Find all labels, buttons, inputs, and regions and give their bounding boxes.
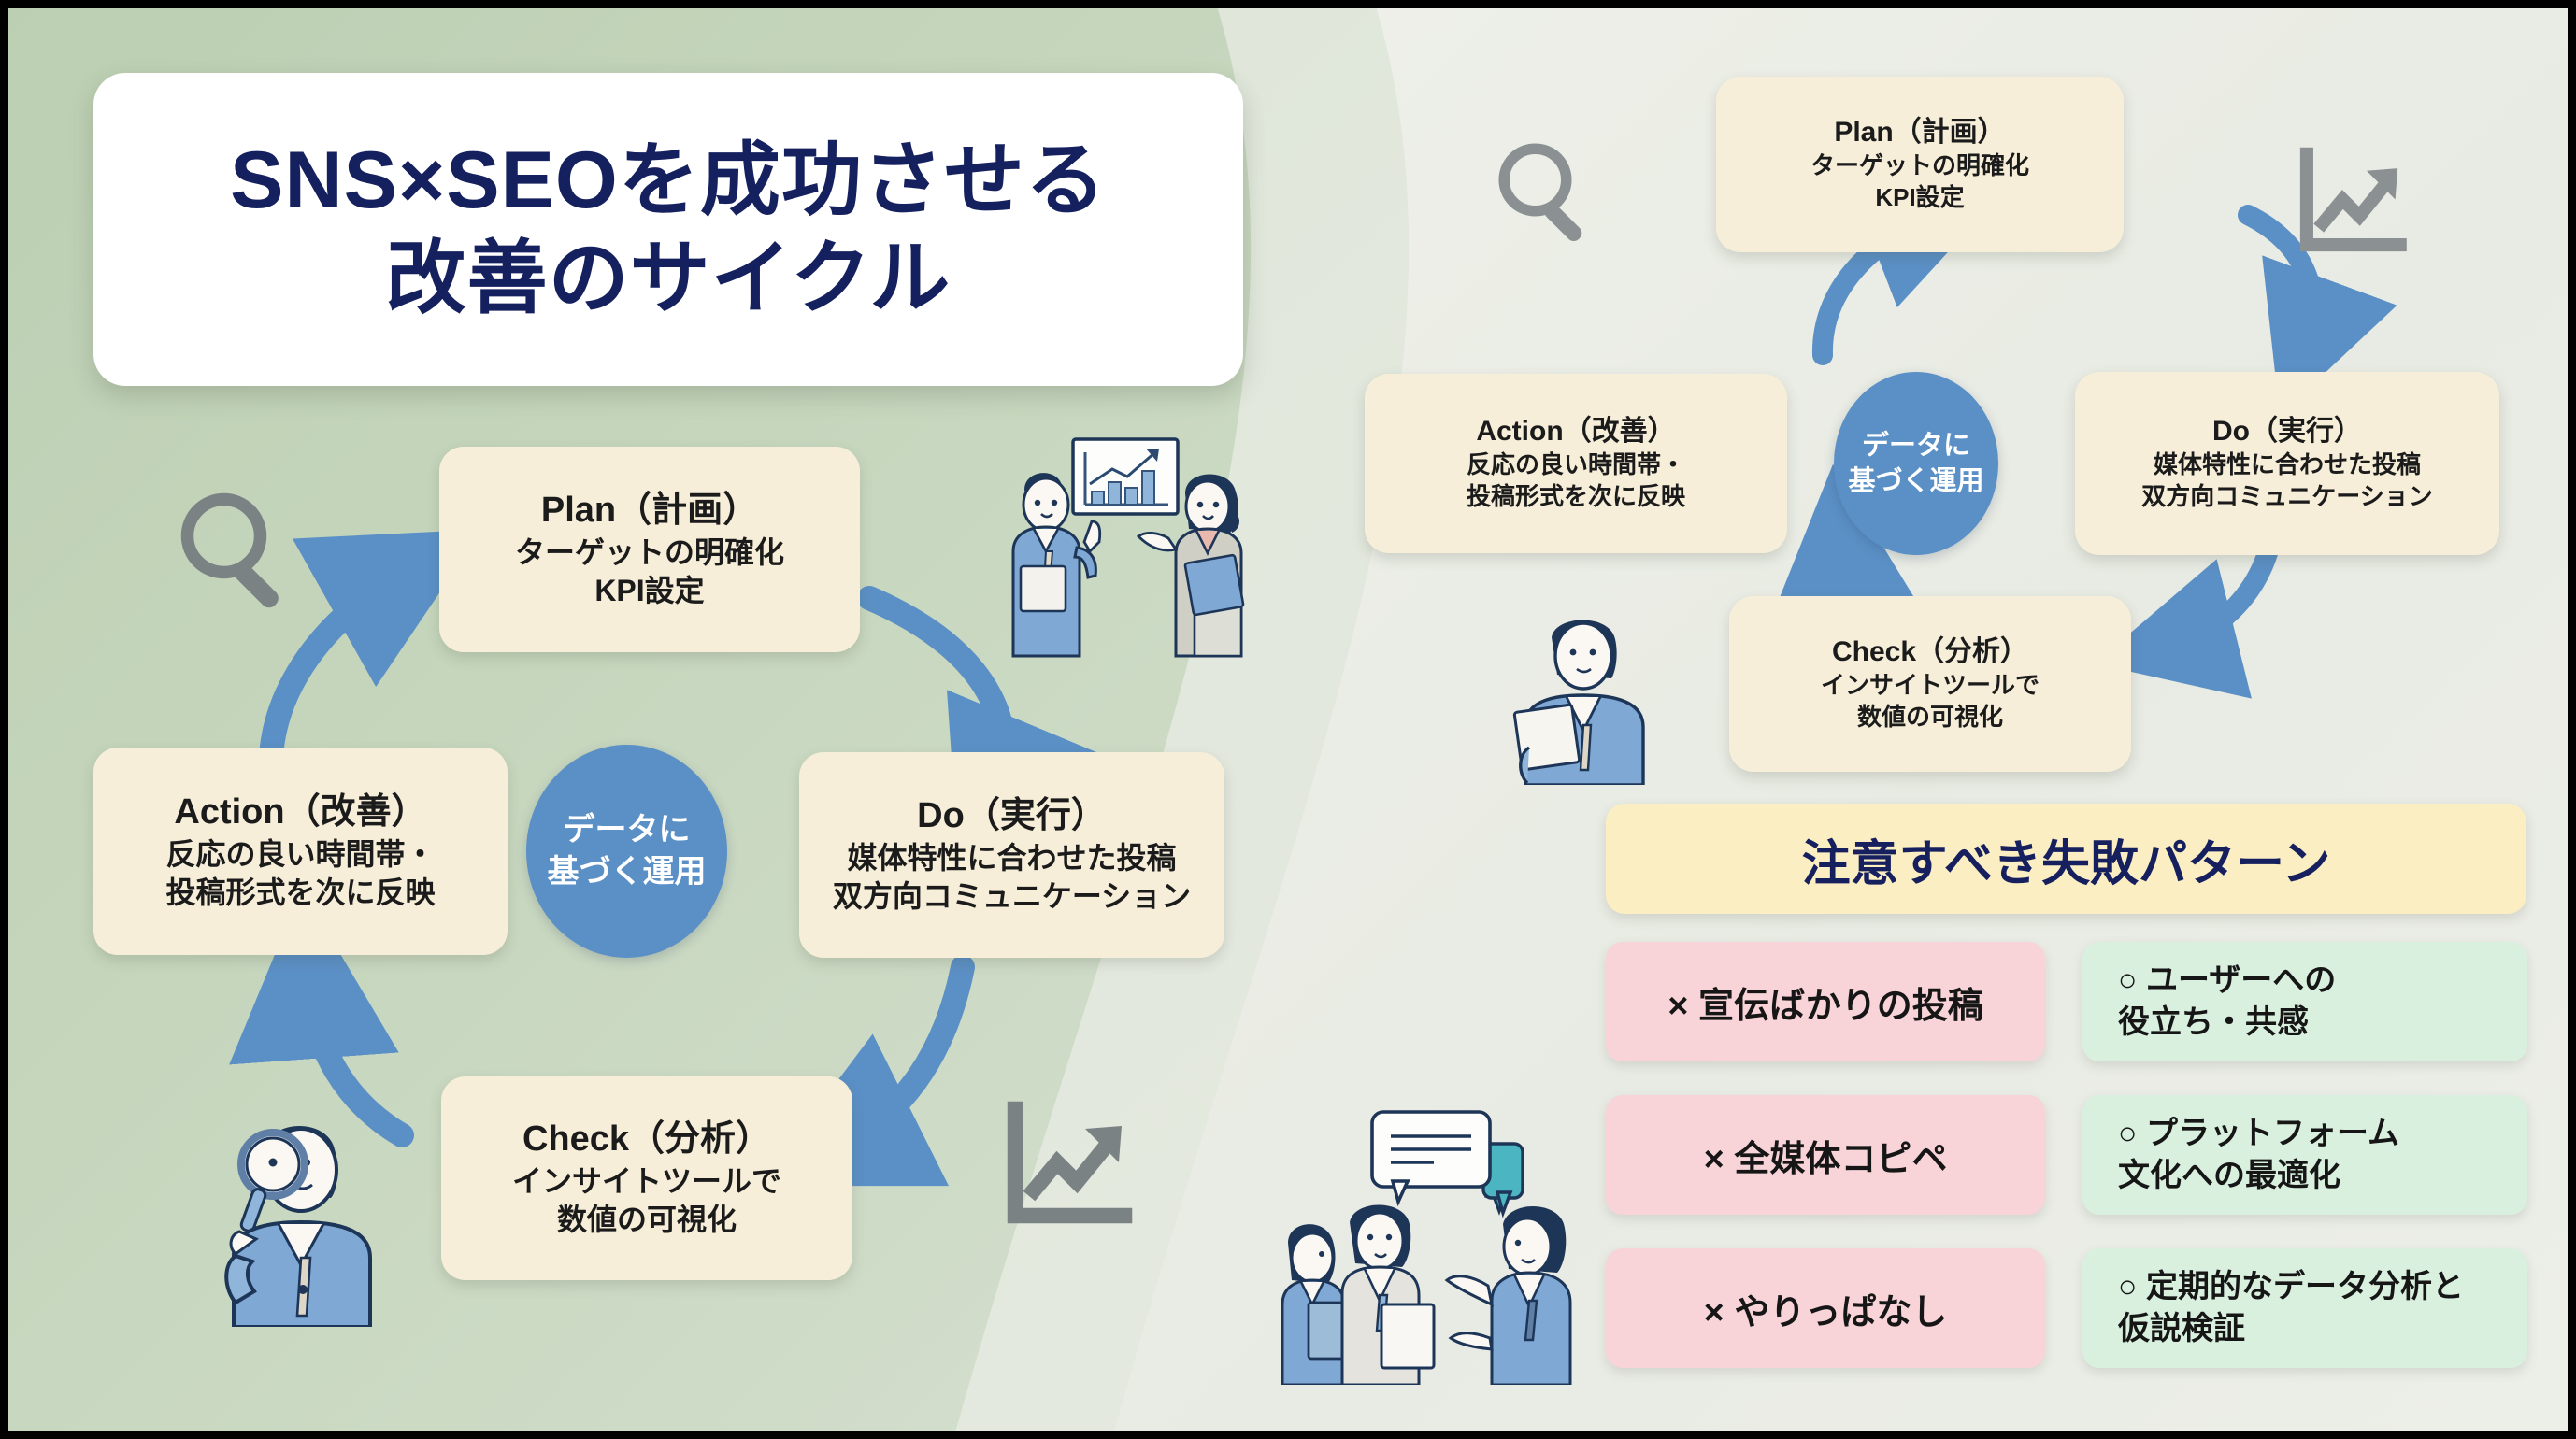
failure-good-text-1: ○ ユーザーへの 役立ち・共感 xyxy=(2118,960,2336,1044)
three-people-discussion-illustration xyxy=(1264,1103,1593,1385)
right-action-head: Action（改善） xyxy=(1476,414,1675,449)
failure-good-text-2: ○ プラットフォーム 文化への最適化 xyxy=(2118,1113,2399,1197)
search-icon xyxy=(166,478,307,619)
right-do-line1: 媒体特性に合わせた投稿 xyxy=(2154,449,2421,481)
left-hub-line1: データに xyxy=(564,809,691,851)
left-hub-line2: 基づく運用 xyxy=(548,851,707,893)
growth-chart-icon xyxy=(995,1095,1136,1235)
search-icon xyxy=(1486,131,1606,250)
right-cycle-card-action: Action（改善） 反応の良い時間帯・ 投稿形式を次に反映 xyxy=(1365,374,1787,553)
failure-panel-heading: 注意すべき失敗パターン xyxy=(1606,804,2526,914)
right-check-line1: インサイトツールで xyxy=(1821,670,2039,702)
left-check-line1: インサイトツールで xyxy=(512,1162,781,1202)
right-cycle-card-plan: Plan（計画） ターゲットの明確化 KPI設定 xyxy=(1716,77,2124,252)
right-check-head: Check（分析） xyxy=(1832,634,2028,670)
right-do-line2: 双方向コミュニケーション xyxy=(2141,481,2432,513)
left-cycle-hub: データに 基づく運用 xyxy=(526,745,727,958)
right-plan-line1: ターゲットの明確化 xyxy=(1810,150,2029,182)
failure-bad-text-2: × 全媒体コピペ xyxy=(1704,1130,1948,1181)
page-title-line1: SNS×SEOを成功させる xyxy=(230,132,1107,230)
failure-good-text-3: ○ 定期的なデータ分析と 仮説検証 xyxy=(2118,1266,2464,1350)
failure-bad-text-3: × やりっぱなし xyxy=(1704,1283,1948,1334)
right-check-line2: 数値の可視化 xyxy=(1857,702,2003,734)
failure-good-row-1: ○ ユーザーへの 役立ち・共感 xyxy=(2082,942,2527,1061)
frame-left-border xyxy=(0,0,8,1439)
right-cycle-card-check: Check（分析） インサイトツールで 数値の可視化 xyxy=(1729,596,2131,772)
left-action-head: Action（改善） xyxy=(174,790,426,835)
left-plan-line1: ターゲットの明確化 xyxy=(515,534,784,573)
left-cycle-card-check: Check（分析） インサイトツールで 数値の可視化 xyxy=(441,1076,852,1280)
two-people-presenting-chart-illustration xyxy=(972,411,1285,659)
failure-bad-row-2: × 全媒体コピペ xyxy=(1606,1095,2045,1215)
left-cycle-card-do: Do（実行） 媒体特性に合わせた投稿 双方向コミュニケーション xyxy=(799,752,1224,958)
title-card: SNS×SEOを成功させる 改善のサイクル xyxy=(93,73,1243,386)
frame-bottom-border xyxy=(0,1431,2576,1439)
left-action-line1: 反応の良い時間帯・ xyxy=(165,835,435,875)
man-with-magnifier-illustration xyxy=(185,1091,419,1327)
right-hub-line1: データに xyxy=(1862,428,1970,463)
left-action-line2: 投稿形式を次に反映 xyxy=(165,874,435,913)
right-cycle-card-do: Do（実行） 媒体特性に合わせた投稿 双方向コミュニケーション xyxy=(2075,372,2499,555)
growth-chart-icon xyxy=(2290,142,2410,262)
right-cycle-hub: データに 基づく運用 xyxy=(1834,372,1998,555)
man-reading-report-illustration xyxy=(1496,598,1673,785)
left-check-line2: 数値の可視化 xyxy=(557,1201,737,1240)
left-plan-head: Plan（計画） xyxy=(541,488,758,534)
left-do-line1: 媒体特性に合わせた投稿 xyxy=(847,839,1176,878)
page-title-line2: 改善のサイクル xyxy=(386,230,952,328)
right-hub-line2: 基づく運用 xyxy=(1848,463,1983,499)
right-action-line2: 投稿形式を次に反映 xyxy=(1467,481,1685,513)
left-do-head: Do（実行） xyxy=(917,793,1107,839)
left-plan-line2: KPI設定 xyxy=(594,572,704,611)
right-action-line1: 反応の良い時間帯・ xyxy=(1467,449,1685,481)
left-cycle-card-plan: Plan（計画） ターゲットの明確化 KPI設定 xyxy=(439,447,860,652)
left-check-head: Check（分析） xyxy=(522,1117,771,1162)
failure-panel-heading-text: 注意すべき失敗パターン xyxy=(1802,824,2331,894)
failure-bad-row-3: × やりっぱなし xyxy=(1606,1248,2045,1368)
failure-good-row-2: ○ プラットフォーム 文化への最適化 xyxy=(2082,1095,2527,1215)
right-do-head: Do（実行） xyxy=(2212,414,2362,449)
failure-good-row-3: ○ 定期的なデータ分析と 仮説検証 xyxy=(2082,1248,2527,1368)
right-plan-head: Plan（計画） xyxy=(1834,115,2005,150)
failure-bad-text-1: × 宣伝ばかりの投稿 xyxy=(1667,976,1983,1028)
failure-bad-row-1: × 宣伝ばかりの投稿 xyxy=(1606,942,2045,1061)
frame-top-border xyxy=(0,0,2576,8)
right-plan-line2: KPI設定 xyxy=(1875,182,1964,214)
left-do-line2: 双方向コミュニケーション xyxy=(833,877,1191,917)
left-cycle-card-action: Action（改善） 反応の良い時間帯・ 投稿形式を次に反映 xyxy=(93,748,508,955)
infographic-canvas: SNS×SEOを成功させる 改善のサイクル Plan（計画） ターゲットの明確化… xyxy=(0,0,2576,1439)
frame-right-border xyxy=(2568,0,2576,1439)
